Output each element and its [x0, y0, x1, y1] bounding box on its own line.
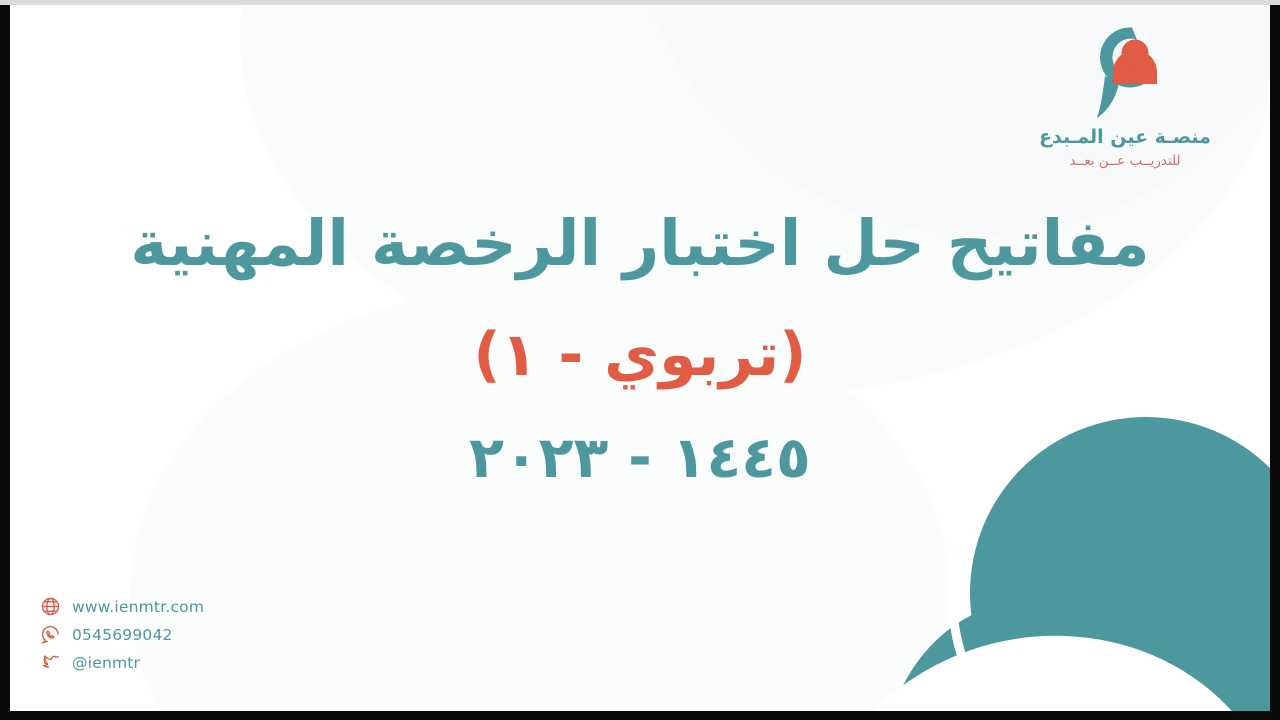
logo-tagline: للتدريــب عــن بعــد — [1025, 153, 1225, 171]
logo-brand-name: منصـة عين المـبدع — [1025, 126, 1225, 150]
title-slide: منصـة عين المـبدع للتدريــب عــن بعــد م… — [0, 0, 1280, 720]
frame-border-bottom — [0, 711, 1280, 720]
whatsapp-icon — [40, 624, 61, 645]
slide-canvas: منصـة عين المـبدع للتدريــب عــن بعــد م… — [10, 5, 1270, 711]
headline-line-2: (تربوي - ١) — [10, 318, 1270, 393]
globe-icon — [40, 596, 61, 617]
contact-phone-label: 0545699042 — [72, 626, 173, 644]
contact-twitter-label: @ienmtr — [72, 654, 140, 672]
headline-line-1: مفاتيح حل اختبار الرخصة المهنية — [10, 205, 1270, 284]
contact-row-twitter[interactable]: @ienmtr — [40, 652, 204, 673]
headline-block: مفاتيح حل اختبار الرخصة المهنية (تربوي -… — [10, 205, 1270, 494]
brand-logo: منصـة عين المـبدع للتدريــب عــن بعــد — [1025, 20, 1225, 170]
contact-row-phone[interactable]: 0545699042 — [40, 624, 204, 645]
frame-border-top — [0, 0, 1280, 5]
ein-almubdi-c-person-logo-icon — [1083, 20, 1167, 124]
twitter-bird-icon — [40, 652, 61, 673]
headline-line-3: ١٤٤٥ - ٢٠٢٣ — [10, 423, 1270, 494]
contact-website-label: www.ienmtr.com — [72, 598, 204, 616]
contact-list: www.ienmtr.com 0545699042 — [40, 596, 204, 673]
contact-row-website[interactable]: www.ienmtr.com — [40, 596, 204, 617]
frame-border-right — [1270, 0, 1280, 720]
frame-border-left — [0, 0, 10, 720]
